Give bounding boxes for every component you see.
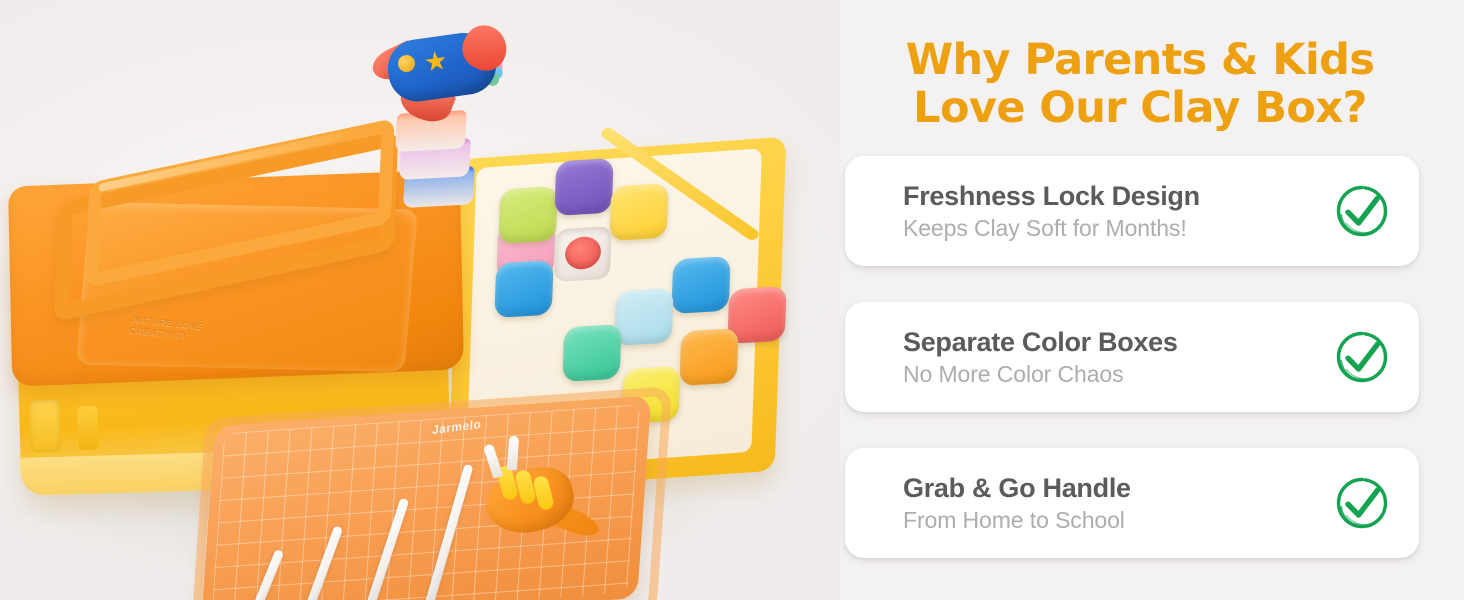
craft-mat-tray-edge — [190, 386, 672, 600]
feature-card-title: Grab & Go Handle — [903, 473, 1321, 503]
feature-card-text: Freshness Lock Design Keeps Clay Soft fo… — [903, 181, 1321, 242]
feature-card[interactable]: Freshness Lock Design Keeps Clay Soft fo… — [845, 156, 1419, 266]
clay-pot — [609, 183, 668, 241]
features-panel: Why Parents & Kids Love Our Clay Box? Fr… — [840, 0, 1464, 600]
clay-pot — [554, 158, 613, 216]
clay-pot — [562, 324, 621, 382]
page-title: Why Parents & Kids Love Our Clay Box? — [840, 36, 1440, 132]
clay-box-latch — [29, 399, 61, 452]
promo-banner: NATURE LOVE CREATIVITY ★ Jarmelo — [0, 0, 1464, 600]
feature-card-text: Grab & Go Handle From Home to School — [903, 473, 1321, 534]
feature-card[interactable]: Grab & Go Handle From Home to School — [845, 448, 1419, 558]
feature-card-title: Separate Color Boxes — [903, 327, 1321, 357]
clay-pot-open — [554, 226, 611, 282]
rocket-star-icon: ★ — [422, 47, 449, 76]
feature-card-text: Separate Color Boxes No More Color Chaos — [903, 327, 1321, 388]
feature-card[interactable]: Separate Color Boxes No More Color Chaos — [845, 302, 1419, 412]
check-circle-icon — [1331, 180, 1393, 242]
clay-pot — [614, 288, 673, 346]
check-circle-icon — [1331, 472, 1393, 534]
feature-card-subtitle: From Home to School — [903, 506, 1321, 534]
check-circle-icon — [1331, 326, 1393, 388]
feature-card-title: Freshness Lock Design — [903, 181, 1321, 211]
clay-pot — [679, 328, 738, 386]
feature-card-list: Freshness Lock Design Keeps Clay Soft fo… — [845, 156, 1423, 594]
clay-box-latch-secondary — [77, 406, 99, 451]
clay-pot — [498, 186, 557, 244]
clay-pot — [671, 256, 730, 314]
clay-pot — [494, 260, 553, 318]
feature-card-subtitle: Keeps Clay Soft for Months! — [903, 214, 1321, 242]
feature-card-subtitle: No More Color Chaos — [903, 360, 1321, 388]
product-photo: NATURE LOVE CREATIVITY ★ Jarmelo — [0, 0, 840, 600]
